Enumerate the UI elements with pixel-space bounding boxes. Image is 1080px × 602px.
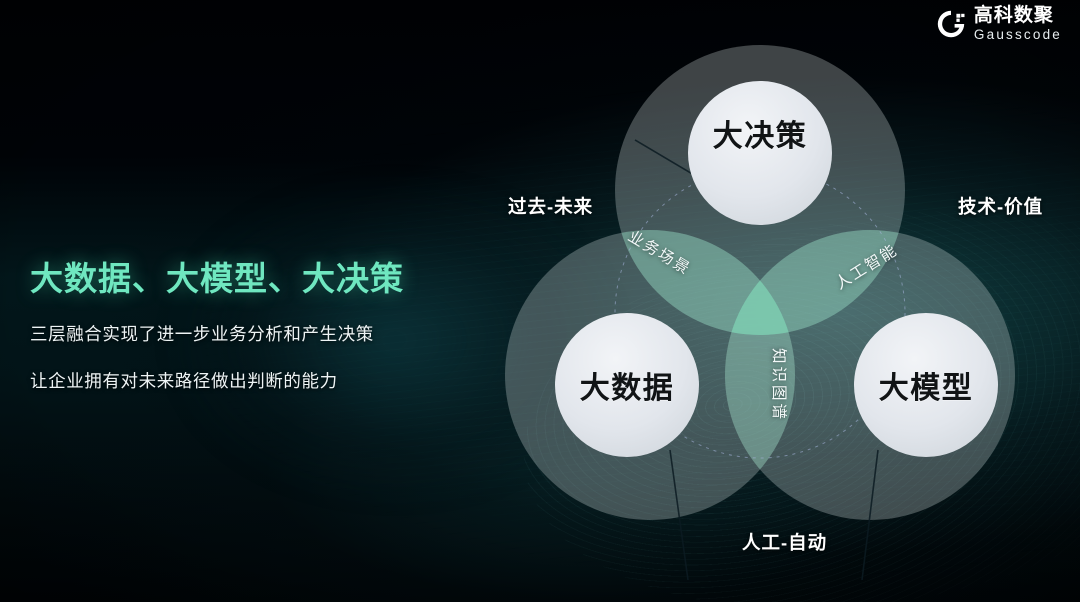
- slide-canvas: 高科数聚 Gausscode 大数据、大模型、大决策 三层融合实现了进一步业务分…: [0, 0, 1080, 602]
- page-title: 大数据、大模型、大决策: [30, 252, 500, 300]
- brand-name-en: Gausscode: [974, 28, 1062, 42]
- venn-core-label-decision: 大决策: [713, 111, 808, 155]
- venn-diagram: [500, 20, 1060, 580]
- venn-axis-label-manual-auto: 人工-自动: [742, 529, 827, 555]
- copy-block: 大数据、大模型、大决策 三层融合实现了进一步业务分析和产生决策 让企业拥有对未来…: [30, 252, 500, 393]
- brand-logo-text: 高科数聚 Gausscode: [974, 6, 1062, 42]
- venn-core-label-bigmodel: 大模型: [879, 363, 974, 407]
- gausscode-ring-icon: [936, 9, 966, 39]
- venn-axis-label-tech-value: 技术-价值: [958, 193, 1043, 219]
- brand-logo: 高科数聚 Gausscode: [936, 6, 1062, 42]
- subtitle-line-1: 三层融合实现了进一步业务分析和产生决策: [30, 321, 500, 346]
- venn-axis-label-past-future: 过去-未来: [508, 193, 593, 219]
- venn-diagram-svg: [500, 20, 1060, 580]
- venn-core-label-bigdata: 大数据: [580, 363, 675, 407]
- brand-name-cn: 高科数聚: [974, 6, 1062, 25]
- venn-overlap-label-kg: 知识图谱: [769, 348, 791, 422]
- subtitle-line-2: 让企业拥有对未来路径做出判断的能力: [30, 368, 500, 393]
